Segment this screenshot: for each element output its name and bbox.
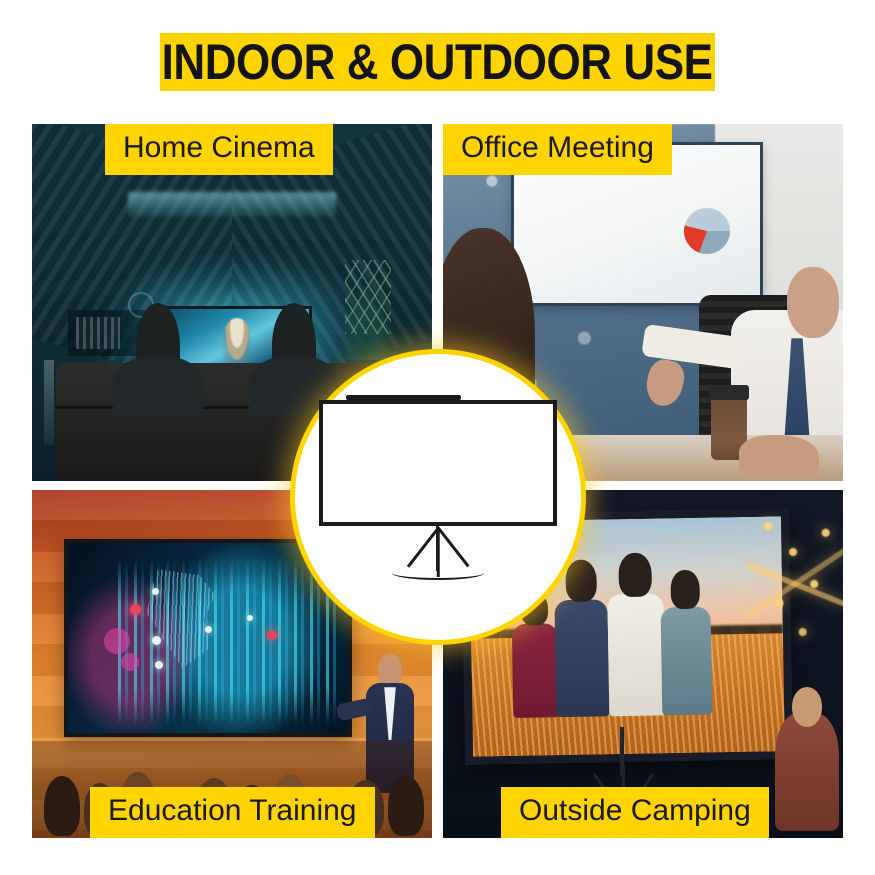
product-tripod-leg	[407, 528, 439, 568]
product-tripod-leg	[437, 528, 469, 568]
friend-head	[619, 552, 652, 596]
screen-surface	[319, 400, 556, 526]
skylight	[128, 192, 336, 217]
page-title-banner: INDOOR & OUTDOOR USE	[160, 33, 715, 91]
friend-figure	[661, 607, 713, 716]
scene-label-office-meeting: Office Meeting	[443, 124, 672, 175]
screen-dot	[155, 661, 163, 669]
scene-label-education-training: Education Training	[90, 787, 375, 838]
movie-character	[223, 318, 251, 366]
viewer-silhouette-left	[136, 303, 180, 389]
man-head	[787, 267, 839, 338]
infographic-page: INDOOR & OUTDOOR USE Home Cinem	[0, 0, 875, 875]
scene-label-outside-camping: Outside Camping	[501, 787, 769, 838]
child-foreground	[775, 713, 839, 831]
houseplant	[336, 260, 400, 360]
audience-head	[44, 776, 80, 836]
books	[76, 317, 120, 349]
pie-chart-icon	[684, 208, 730, 254]
audience-head	[388, 776, 424, 836]
string-lights	[747, 504, 843, 664]
floor-lamp	[44, 360, 54, 446]
friend-head	[671, 570, 701, 609]
friend-figure	[608, 593, 666, 716]
page-title: INDOOR & OUTDOOR USE	[162, 37, 713, 87]
product-tripod-brace	[392, 566, 484, 580]
product-callout-circle	[295, 354, 581, 640]
scene-label-home-cinema: Home Cinema	[105, 124, 333, 175]
projector-screen-product	[295, 354, 581, 640]
resting-hand	[739, 435, 819, 478]
presenter-head	[378, 654, 402, 687]
screen-dot	[130, 604, 141, 615]
screen-dot	[152, 636, 161, 645]
